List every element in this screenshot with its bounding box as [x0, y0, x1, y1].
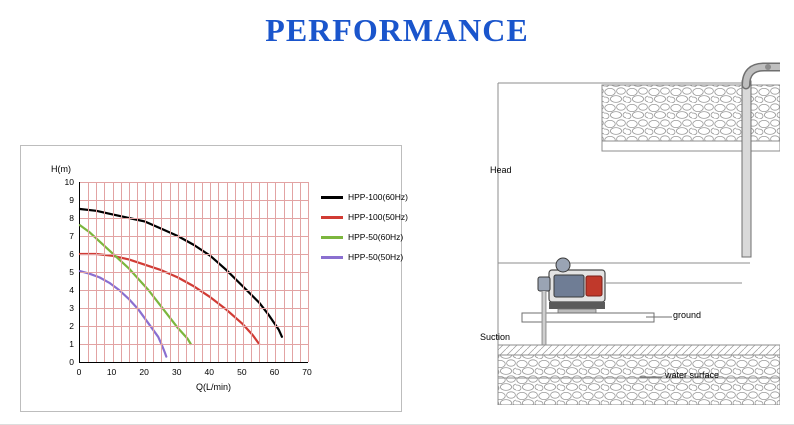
chart-x-tick-label: 40 [199, 367, 219, 377]
chart-vertical-gridline [308, 182, 309, 362]
chart-y-tick-label: 4 [54, 285, 74, 295]
chart-horizontal-gridline [80, 308, 308, 309]
chart-horizontal-gridline [80, 272, 308, 273]
chart-x-axis-label: Q(L/min) [196, 382, 231, 392]
chart-x-tick-label: 0 [69, 367, 89, 377]
chart-legend: HPP-100(60Hz)HPP-100(50Hz)HPP-50(60Hz)HP… [321, 192, 421, 272]
chart-y-axis-label: H(m) [51, 164, 71, 174]
chart-legend-swatch [321, 216, 343, 219]
chart-x-tick-label: 20 [134, 367, 154, 377]
chart-y-tick-label: 10 [54, 177, 74, 187]
chart-horizontal-gridline [80, 344, 308, 345]
chart-y-tick-label: 9 [54, 195, 74, 205]
chart-y-tick-label: 3 [54, 303, 74, 313]
chart-horizontal-gridline [80, 290, 308, 291]
chart-legend-label: HPP-100(50Hz) [348, 212, 408, 222]
chart-legend-label: HPP-50(60Hz) [348, 232, 403, 242]
chart-plot-area [79, 182, 308, 363]
diagram-label-head: Head [490, 165, 512, 175]
chart-y-tick-label: 8 [54, 213, 74, 223]
chart-legend-item: HPP-100(60Hz) [321, 192, 421, 202]
chart-legend-label: HPP-100(60Hz) [348, 192, 408, 202]
diagram-label-suction: Suction [480, 332, 510, 342]
chart-horizontal-gridline [80, 326, 308, 327]
chart-y-tick-label: 0 [54, 357, 74, 367]
chart-legend-swatch [321, 256, 343, 259]
chart-horizontal-gridline [80, 218, 308, 219]
chart-x-tick-label: 10 [102, 367, 122, 377]
chart-horizontal-gridline [80, 236, 308, 237]
installation-diagram: Head Suction ground water surface [450, 55, 780, 405]
chart-x-tick-label: 50 [232, 367, 252, 377]
chart-legend-item: HPP-50(60Hz) [321, 232, 421, 242]
chart-legend-item: HPP-50(50Hz) [321, 252, 421, 262]
chart-legend-label: HPP-50(50Hz) [348, 252, 403, 262]
chart-y-tick-label: 2 [54, 321, 74, 331]
diagram-label-ground: ground [673, 310, 701, 320]
chart-y-tick-label: 5 [54, 267, 74, 277]
chart-legend-swatch [321, 196, 343, 199]
chart-y-tick-label: 1 [54, 339, 74, 349]
chart-horizontal-gridline [80, 254, 308, 255]
diagram-label-water-surface: water surface [665, 370, 719, 380]
performance-chart-panel: H(m) Q(L/min) 012345678910 0102030405060… [20, 145, 402, 412]
chart-horizontal-gridline [80, 182, 308, 183]
chart-legend-item: HPP-100(50Hz) [321, 212, 421, 222]
page-title: PERFORMANCE [0, 12, 794, 49]
chart-x-tick-label: 60 [264, 367, 284, 377]
installation-diagram-svg [450, 55, 780, 405]
chart-y-tick-label: 6 [54, 249, 74, 259]
chart-legend-swatch [321, 236, 343, 239]
chart-x-tick-label: 70 [297, 367, 317, 377]
chart-horizontal-gridline [80, 200, 308, 201]
chart-x-tick-label: 30 [167, 367, 187, 377]
chart-y-tick-label: 7 [54, 231, 74, 241]
